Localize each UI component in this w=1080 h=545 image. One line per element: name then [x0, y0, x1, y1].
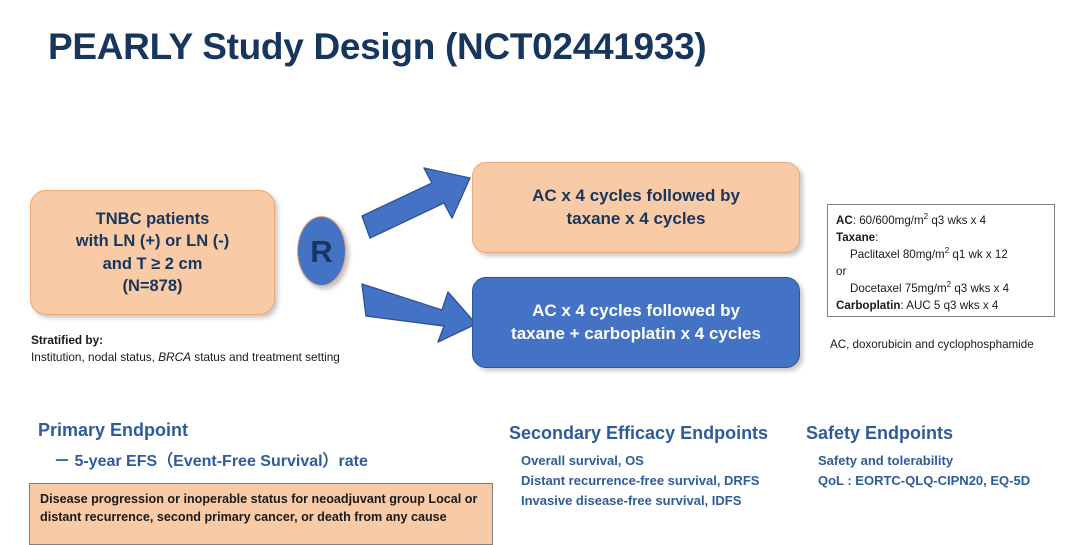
- stratification-italic-term: BRCA: [158, 350, 191, 364]
- dosing-text: 60/600mg/m: [859, 214, 923, 227]
- dosing-row: Paclitaxel 80mg/m2 q1 wk x 12: [836, 246, 1047, 263]
- arrow-to-experimental-arm: [360, 272, 478, 354]
- population-box-text: TNBC patients with LN (+) or LN (-) and …: [76, 208, 230, 297]
- dosing-sep: :: [875, 231, 878, 244]
- list-item: QoL : EORTC-QLQ-CIPN20, EQ-5D: [818, 471, 1030, 491]
- treatment-arm-control: AC x 4 cycles followed by taxane x 4 cyc…: [472, 162, 800, 253]
- dosing-label: AC: [836, 214, 853, 227]
- list-item: Invasive disease-free survival, IDFS: [521, 491, 768, 511]
- secondary-endpoints-list: Overall survival, OS Distant recurrence-…: [521, 451, 768, 511]
- population-box: TNBC patients with LN (+) or LN (-) and …: [30, 190, 275, 315]
- dosing-text: q3 wks x 4: [951, 282, 1009, 295]
- list-item: Distant recurrence-free survival, DRFS: [521, 471, 768, 491]
- dosing-row: Carboplatin: AUC 5 q3 wks x 4: [836, 297, 1047, 314]
- dosing-text: AUC 5 q3 wks x 4: [906, 299, 998, 312]
- primary-endpoint-section: Primary Endpoint － 5-year EFS（Event-Free…: [38, 420, 368, 471]
- population-line: and T ≥ 2 cm: [76, 253, 230, 275]
- primary-endpoint-item: － 5-year EFS（Event-Free Survival）rate: [54, 447, 368, 471]
- safety-endpoints-list: Safety and tolerability QoL : EORTC-QLQ-…: [818, 451, 1030, 491]
- list-item: Overall survival, OS: [521, 451, 768, 471]
- safety-endpoints-heading: Safety Endpoints: [806, 423, 1030, 444]
- stratification-factors: Institution, nodal status, BRCA status a…: [31, 349, 340, 366]
- dosing-text: Paclitaxel 80mg/m: [850, 248, 945, 261]
- list-item: Safety and tolerability: [818, 451, 1030, 471]
- primary-endpoint-definition-box: Disease progression or inoperable status…: [29, 483, 493, 545]
- safety-endpoints-section: Safety Endpoints Safety and tolerability…: [806, 423, 1030, 491]
- ac-abbreviation-footnote: AC, doxorubicin and cyclophosphamide: [830, 338, 1034, 351]
- arm-line: taxane + carboplatin x 4 cycles: [511, 323, 761, 345]
- secondary-endpoints-heading: Secondary Efficacy Endpoints: [509, 423, 768, 444]
- dosing-detail-box: AC: 60/600mg/m2 q3 wks x 4 Taxane: Pacli…: [827, 204, 1055, 317]
- dosing-text: Docetaxel 75mg/m: [850, 282, 947, 295]
- primary-endpoint-heading: Primary Endpoint: [38, 420, 368, 441]
- stratification-suffix: status and treatment setting: [191, 350, 340, 364]
- stratification-note: Stratified by: Institution, nodal status…: [31, 332, 340, 366]
- dosing-label: Taxane: [836, 231, 875, 244]
- randomization-marker: R: [297, 216, 346, 286]
- population-line: (N=878): [76, 275, 230, 297]
- population-line: with LN (+) or LN (-): [76, 230, 230, 252]
- dosing-row: AC: 60/600mg/m2 q3 wks x 4: [836, 212, 1047, 229]
- page-title: PEARLY Study Design (NCT02441933): [48, 26, 706, 68]
- dosing-text: q3 wks x 4: [928, 214, 986, 227]
- dosing-label: Carboplatin: [836, 299, 900, 312]
- dosing-row: or: [836, 263, 1047, 280]
- arm-line: AC x 4 cycles followed by: [511, 300, 761, 322]
- treatment-arm-experimental-text: AC x 4 cycles followed by taxane + carbo…: [511, 300, 761, 344]
- stratification-heading: Stratified by:: [31, 332, 340, 349]
- arm-line: AC x 4 cycles followed by: [532, 185, 740, 207]
- treatment-arm-experimental: AC x 4 cycles followed by taxane + carbo…: [472, 277, 800, 368]
- stratification-prefix: Institution, nodal status,: [31, 350, 158, 364]
- dosing-text: q1 wk x 12: [949, 248, 1008, 261]
- arrow-to-control-arm: [360, 166, 472, 248]
- arm-line: taxane x 4 cycles: [532, 208, 740, 230]
- population-line: TNBC patients: [76, 208, 230, 230]
- secondary-endpoints-section: Secondary Efficacy Endpoints Overall sur…: [509, 423, 768, 511]
- dosing-row: Docetaxel 75mg/m2 q3 wks x 4: [836, 280, 1047, 297]
- dosing-text: or: [836, 265, 846, 278]
- dosing-row: Taxane:: [836, 229, 1047, 246]
- treatment-arm-control-text: AC x 4 cycles followed by taxane x 4 cyc…: [532, 185, 740, 229]
- randomization-label: R: [310, 236, 332, 267]
